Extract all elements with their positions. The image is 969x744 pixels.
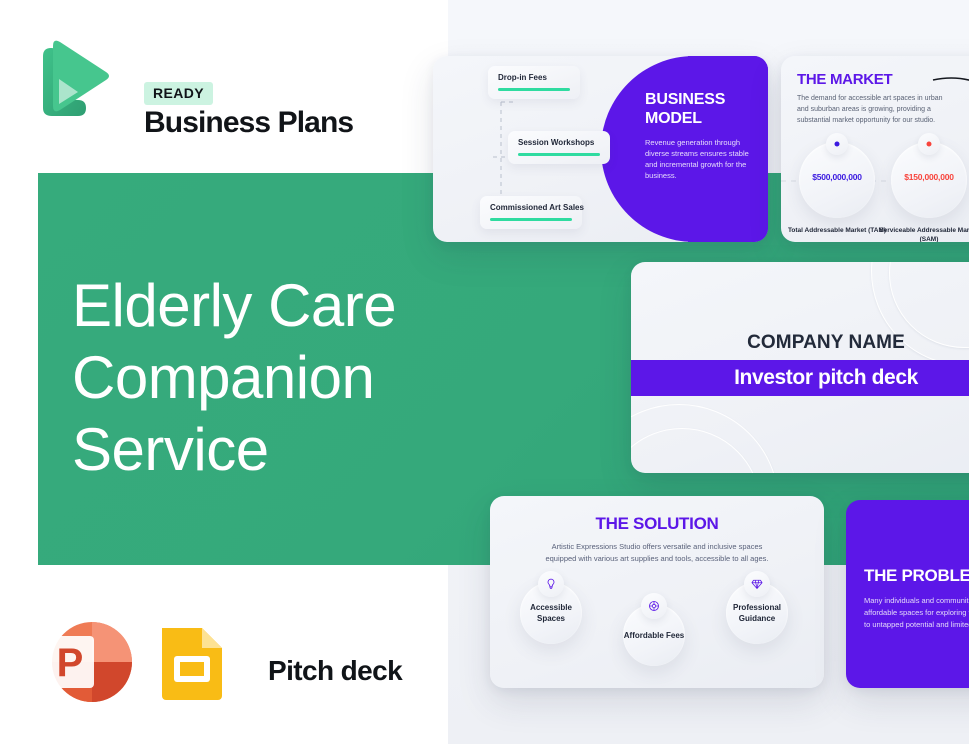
market-dot-sam [927,142,932,147]
market-metric-tam[interactable]: $500,000,000 [799,142,875,218]
google-slides-icon [158,624,226,700]
coin-target-icon [641,593,667,619]
market-dot-holder [826,133,848,155]
company-subtitle-text: Investor pitch deck [734,366,918,390]
ready-badge: READY [144,82,213,105]
market-value-tam: $500,000,000 [799,172,875,182]
company-name-text: COMPANY NAME [631,332,969,354]
problem-body: Many individuals and communities lack ac… [864,595,969,631]
revenue-item-underline [498,88,570,91]
revenue-item-commissioned-art-sales[interactable]: Commissioned Art Sales [480,196,582,229]
business-model-body: Revenue generation through diverse strea… [645,137,757,181]
market-metric-sam[interactable]: $150,000,000 [891,142,967,218]
powerpoint-icon: P [40,620,136,704]
slide-card-company-name[interactable]: COMPANY NAME Investor pitch deck [631,262,969,473]
page-title: Elderly Care Companion Service [72,270,492,486]
diamond-icon [744,571,770,597]
solution-heading: THE SOLUTION [490,514,824,534]
market-caption-tam: Total Addressable Market (TAM) [785,226,889,235]
format-label: Pitch deck [268,655,402,687]
company-subtitle-band: Investor pitch deck [631,360,969,396]
revenue-item-underline [490,218,572,221]
slide-card-market[interactable]: THE MARKET The demand for accessible art… [781,56,969,242]
brand-logo[interactable]: READY Business Plans [36,34,336,124]
solution-pillar-label: Affordable Fees [624,630,684,641]
brand-title: Business Plans [144,106,353,140]
slide-card-problem[interactable]: THE PROBLEM Many individuals and communi… [846,500,969,688]
solution-pillar-label: Professional Guidance [726,602,788,624]
revenue-item-underline [518,153,600,156]
curved-arrow-icon [931,72,969,118]
revenue-item-drop-in-fees[interactable]: Drop-in Fees [488,66,580,99]
market-value-sam: $150,000,000 [891,172,967,182]
market-heading: THE MARKET [797,71,892,88]
business-model-heading: BUSINESS MODEL [645,90,757,128]
play-triangle-logo-icon [36,34,110,120]
solution-body: Artistic Expressions Studio offers versa… [545,541,769,564]
slide-card-solution[interactable]: THE SOLUTION Artistic Expressions Studio… [490,496,824,688]
market-dot-tam [835,142,840,147]
solution-pillar-label: Accessible Spaces [520,602,582,624]
market-body: The demand for accessible art spaces in … [797,93,953,126]
business-model-text: BUSINESS MODEL Revenue generation throug… [645,90,757,181]
poster-canvas: READY Business Plans Elderly Care Compan… [0,0,969,744]
revenue-item-label: Session Workshops [518,138,600,147]
lightbulb-icon [538,571,564,597]
revenue-item-session-workshops[interactable]: Session Workshops [508,131,610,164]
svg-text:P: P [57,641,84,685]
revenue-item-label: Drop-in Fees [498,73,570,82]
market-caption-sam: Serviceable Addressable Market (SAM) [877,226,969,242]
revenue-item-label: Commissioned Art Sales [490,203,572,212]
problem-heading: THE PROBLEM [864,566,969,586]
market-dot-holder [918,133,940,155]
